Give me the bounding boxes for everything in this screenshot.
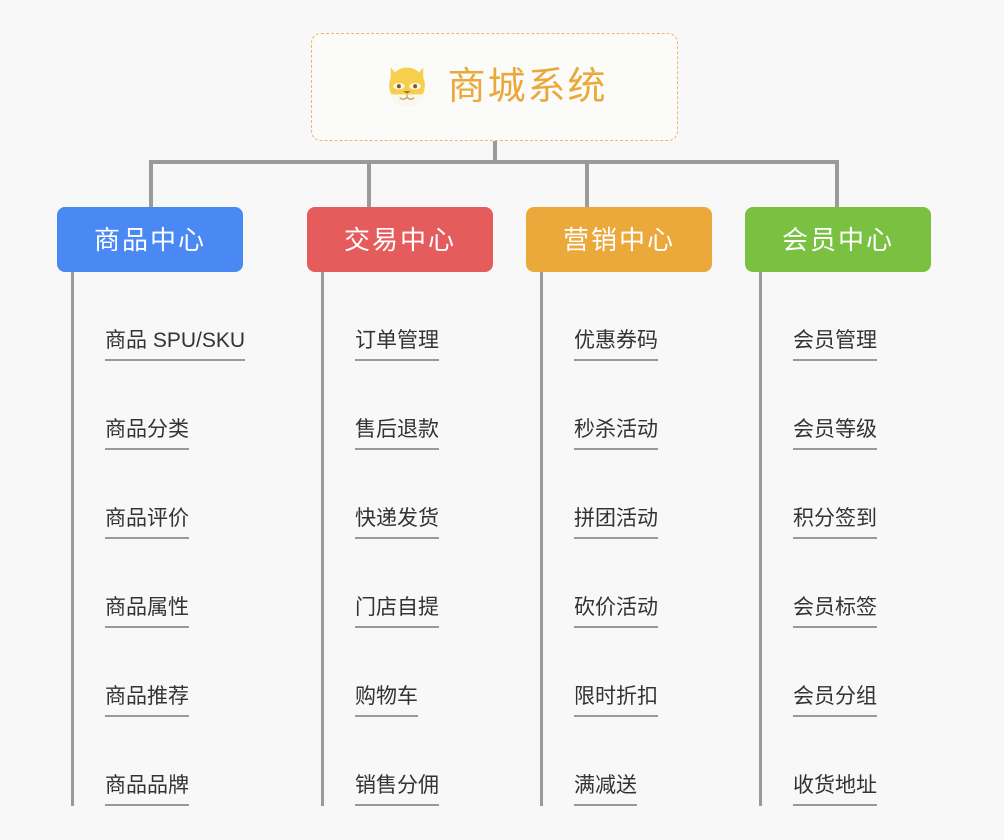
branch-column-4: 会员中心 会员管理 会员等级 积分签到 会员标签 会员分组 收货地址 — [745, 207, 935, 806]
branch-column-2: 交易中心 订单管理 售后退款 快递发货 门店自提 购物车 销售分佣 — [307, 207, 497, 806]
category-label-1: 商品中心 — [94, 227, 206, 253]
leaf-item[interactable]: 商品属性 — [72, 539, 247, 628]
leaf-item-label: 会员标签 — [793, 597, 877, 628]
leaf-item-label: 购物车 — [355, 686, 418, 717]
leaf-item[interactable]: 商品分类 — [72, 361, 247, 450]
leaf-item-label: 满减送 — [574, 775, 637, 806]
org-chart: 商城系统 商品中心 商品 SPU/SKU 商品分类 商品评价 商品属性 商品推荐… — [0, 0, 1004, 840]
leaf-item-label: 销售分佣 — [355, 775, 439, 806]
leaf-item[interactable]: 优惠券码 — [541, 272, 716, 361]
leaf-item[interactable]: 商品推荐 — [72, 628, 247, 717]
leaf-item[interactable]: 销售分佣 — [322, 717, 497, 806]
leaf-item[interactable]: 商品品牌 — [72, 717, 247, 806]
leaf-item-label: 拼团活动 — [574, 508, 658, 539]
leaf-item-label: 商品推荐 — [105, 686, 189, 717]
leaf-item[interactable]: 会员管理 — [760, 272, 935, 361]
leaf-item-label: 售后退款 — [355, 419, 439, 450]
leaf-item-label: 收货地址 — [793, 775, 877, 806]
leaf-item-label: 商品分类 — [105, 419, 189, 450]
category-box-4[interactable]: 会员中心 — [745, 207, 931, 272]
root-node-shop-system[interactable]: 商城系统 — [311, 33, 678, 141]
leaf-item-label: 订单管理 — [355, 330, 439, 361]
leaf-list-2: 订单管理 售后退款 快递发货 门店自提 购物车 销售分佣 — [307, 272, 497, 806]
leaf-item[interactable]: 商品评价 — [72, 450, 247, 539]
leaf-item-label: 商品属性 — [105, 597, 189, 628]
leaf-item-label: 商品品牌 — [105, 775, 189, 806]
leaf-item[interactable]: 拼团活动 — [541, 450, 716, 539]
leaf-item-label: 门店自提 — [355, 597, 439, 628]
category-box-2[interactable]: 交易中心 — [307, 207, 493, 272]
leaf-list-3: 优惠券码 秒杀活动 拼团活动 砍价活动 限时折扣 满减送 — [526, 272, 716, 806]
leaf-item-label: 会员等级 — [793, 419, 877, 450]
leaf-item[interactable]: 购物车 — [322, 628, 497, 717]
shiba-dog-face-icon — [381, 61, 433, 113]
leaf-item[interactable]: 订单管理 — [322, 272, 497, 361]
leaf-item-label: 会员分组 — [793, 686, 877, 717]
category-label-4: 会员中心 — [782, 227, 894, 253]
leaf-item-label: 秒杀活动 — [574, 419, 658, 450]
leaf-item-label: 优惠券码 — [574, 330, 658, 361]
leaf-item[interactable]: 售后退款 — [322, 361, 497, 450]
leaf-item[interactable]: 门店自提 — [322, 539, 497, 628]
branch-column-3: 营销中心 优惠券码 秒杀活动 拼团活动 砍价活动 限时折扣 满减送 — [526, 207, 716, 806]
leaf-item-label: 商品评价 — [105, 508, 189, 539]
category-label-3: 营销中心 — [563, 227, 675, 253]
root-node-label: 商城系统 — [447, 68, 607, 106]
leaf-item[interactable]: 限时折扣 — [541, 628, 716, 717]
leaf-item-label: 会员管理 — [793, 330, 877, 361]
leaf-item[interactable]: 收货地址 — [760, 717, 935, 806]
bus-drop-connector-1 — [149, 160, 153, 208]
leaf-list-4: 会员管理 会员等级 积分签到 会员标签 会员分组 收货地址 — [745, 272, 935, 806]
category-label-2: 交易中心 — [344, 227, 456, 253]
category-box-1[interactable]: 商品中心 — [57, 207, 243, 272]
leaf-item-label: 砍价活动 — [574, 597, 658, 628]
leaf-item-label: 快递发货 — [355, 508, 439, 539]
leaf-item[interactable]: 秒杀活动 — [541, 361, 716, 450]
leaf-list-1: 商品 SPU/SKU 商品分类 商品评价 商品属性 商品推荐 商品品牌 — [57, 272, 247, 806]
leaf-item[interactable]: 会员标签 — [760, 539, 935, 628]
leaf-item[interactable]: 砍价活动 — [541, 539, 716, 628]
bus-connector-horizontal — [149, 160, 839, 164]
leaf-item-label: 商品 SPU/SKU — [105, 330, 245, 361]
leaf-item[interactable]: 积分签到 — [760, 450, 935, 539]
leaf-item[interactable]: 商品 SPU/SKU — [72, 272, 247, 361]
bus-drop-connector-2 — [367, 160, 371, 208]
bus-drop-connector-3 — [585, 160, 589, 208]
bus-drop-connector-4 — [835, 160, 839, 208]
branch-column-1: 商品中心 商品 SPU/SKU 商品分类 商品评价 商品属性 商品推荐 商品品牌 — [57, 207, 247, 806]
leaf-item[interactable]: 会员分组 — [760, 628, 935, 717]
leaf-item[interactable]: 会员等级 — [760, 361, 935, 450]
leaf-item-label: 积分签到 — [793, 508, 877, 539]
leaf-item[interactable]: 快递发货 — [322, 450, 497, 539]
leaf-item[interactable]: 满减送 — [541, 717, 716, 806]
category-box-3[interactable]: 营销中心 — [526, 207, 712, 272]
leaf-item-label: 限时折扣 — [574, 686, 658, 717]
